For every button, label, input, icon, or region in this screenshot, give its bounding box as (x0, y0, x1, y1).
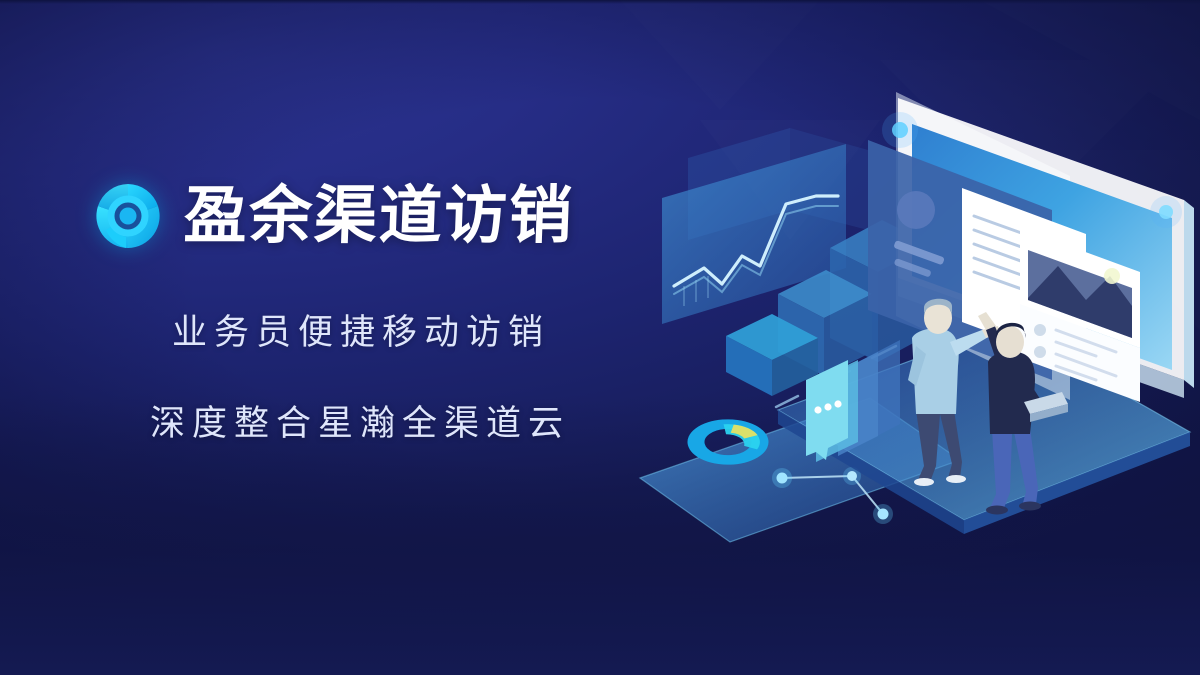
brand-row: 盈余渠道访销 (92, 170, 632, 262)
target-ring-icon (92, 180, 164, 252)
isometric-business-analytics-illustration (600, 80, 1200, 580)
background-top-edge (0, 0, 1200, 4)
page-title: 盈余渠道访销 (183, 185, 575, 248)
banner-stage: 盈余渠道访销 业务员便捷移动访销 深度整合星瀚全渠道云 (0, 0, 1200, 675)
tagline-primary: 业务员便捷移动访销 (172, 304, 632, 355)
tagline-secondary: 深度整合星瀚全渠道云 (150, 395, 632, 446)
hero-copy: 盈余渠道访销 业务员便捷移动访销 深度整合星瀚全渠道云 (92, 170, 632, 446)
donut-chart-icon (692, 422, 764, 462)
